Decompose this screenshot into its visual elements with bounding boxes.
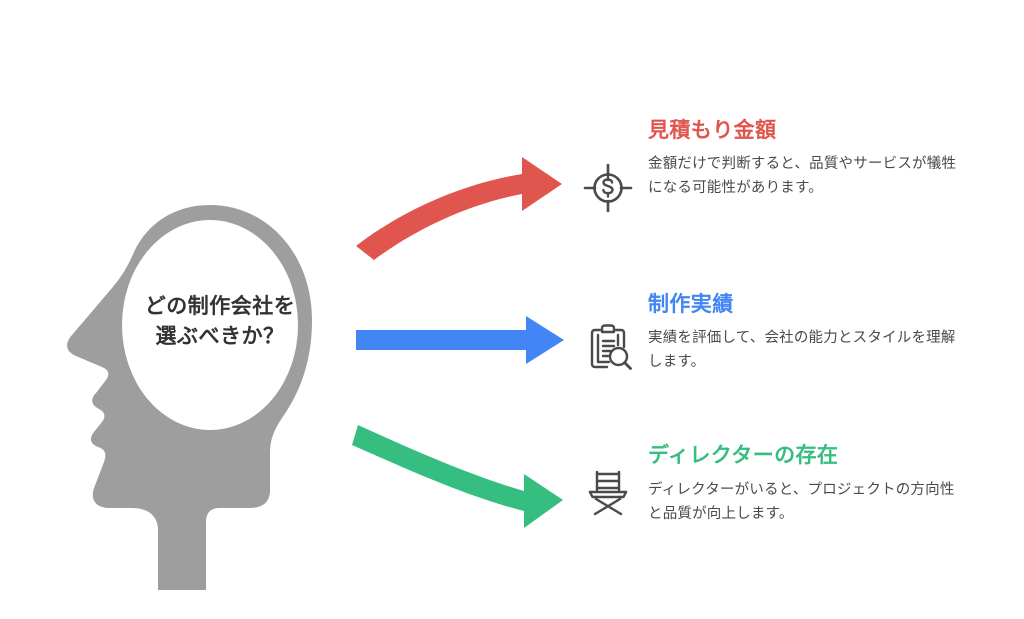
arrow-group <box>340 140 590 530</box>
infographic-canvas: どの制作会社を 選ぶべきか？ 見積もり金額 金額だけ <box>0 0 1024 619</box>
item-description: 金額だけで判断すると、品質やサービスが犠牲になる可能性があります。 <box>648 153 966 200</box>
arrow-red-curve-up-icon <box>356 157 562 260</box>
item-heading: ディレクターの存在 <box>648 443 966 469</box>
center-question-text: どの制作会社を 選ぶべきか？ <box>100 292 340 352</box>
item-text-block: 見積もり金額 金額だけで判断すると、品質やサービスが犠牲になる可能性があります。 <box>648 118 966 200</box>
clipboard-search-icon <box>580 319 636 375</box>
arrow-green-curve-down-icon <box>352 425 563 528</box>
head-silhouette <box>60 190 330 590</box>
item-text-block: ディレクターの存在 ディレクターがいると、プロジェクトの方向性と品質が向上します… <box>648 443 966 526</box>
arrow-blue-straight-icon <box>356 316 564 364</box>
target-dollar-icon <box>580 160 636 216</box>
item-description: 実績を評価して、会社の能力とスタイルを理解します。 <box>648 327 966 374</box>
item-heading: 制作実績 <box>648 292 966 318</box>
item-text-block: 制作実績 実績を評価して、会社の能力とスタイルを理解します。 <box>648 292 966 374</box>
director-chair-icon <box>580 464 636 520</box>
item-description: ディレクターがいると、プロジェクトの方向性と品質が向上します。 <box>648 479 966 526</box>
item-heading: 見積もり金額 <box>648 118 966 144</box>
